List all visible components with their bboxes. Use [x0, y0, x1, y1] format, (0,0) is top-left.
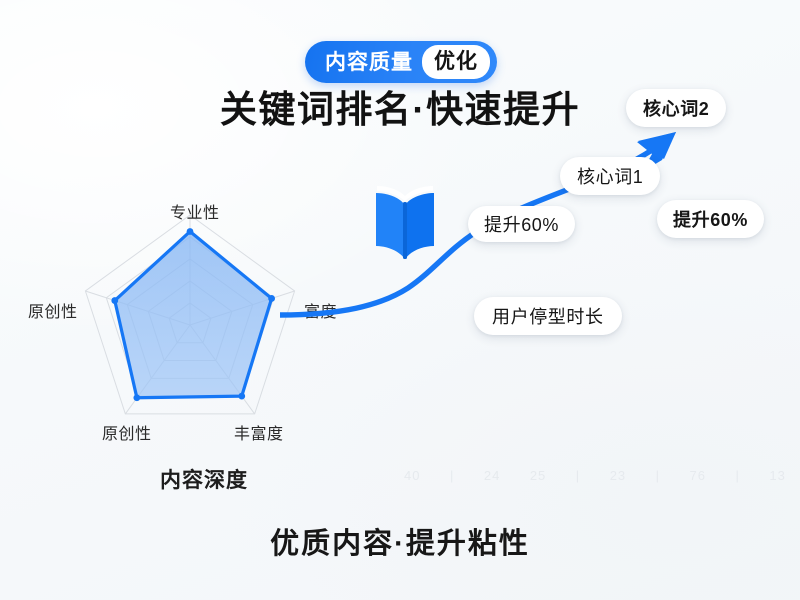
radar-data-area	[115, 232, 272, 398]
ghost-axis-tick: |	[450, 468, 454, 483]
quality-badge[interactable]: 内容质量 优化	[305, 41, 497, 83]
pill-keyword-2[interactable]: 核心词2	[626, 89, 726, 127]
quality-badge-label: 内容质量	[325, 52, 413, 73]
ghost-axis-tick: 76	[690, 468, 706, 483]
pill-keyword-1[interactable]: 核心词1	[560, 157, 660, 195]
ghost-axis-tick: 24	[484, 468, 500, 483]
footer-title: 优质内容·提升粘性	[0, 520, 800, 562]
radar-axis-label-left: 原创性	[28, 298, 78, 322]
ghost-axis-tick: |	[736, 468, 740, 483]
ghost-axis-tick: 23	[610, 468, 626, 483]
pill-dwell-time[interactable]: 用户停型时长	[474, 297, 622, 335]
poster-canvas: 内容质量 优化 关键词排名·快速提升	[0, 0, 800, 600]
ghost-axis-tick: 13	[769, 468, 785, 483]
ghost-axis-tick: 25	[530, 468, 546, 483]
ghost-axis-ticks: 40|2425|23|76|13	[404, 462, 786, 488]
ghost-axis-tick: |	[576, 468, 580, 483]
pill-uplift-left[interactable]: 提升60%	[468, 206, 575, 242]
radar-axis-label-top: 专业性	[170, 199, 220, 223]
open-book-icon	[372, 180, 438, 264]
radar-caption: 内容深度	[160, 464, 248, 494]
radar-axis-label-bottom-right: 丰富度	[234, 420, 284, 444]
ghost-axis-tick: 40	[404, 468, 420, 483]
quality-badge-sub-label: 优化	[422, 45, 490, 79]
radar-axis-label-bottom-left: 原创性	[102, 420, 152, 444]
ghost-axis-tick: |	[656, 468, 660, 483]
pill-uplift-right[interactable]: 提升60%	[657, 200, 764, 238]
